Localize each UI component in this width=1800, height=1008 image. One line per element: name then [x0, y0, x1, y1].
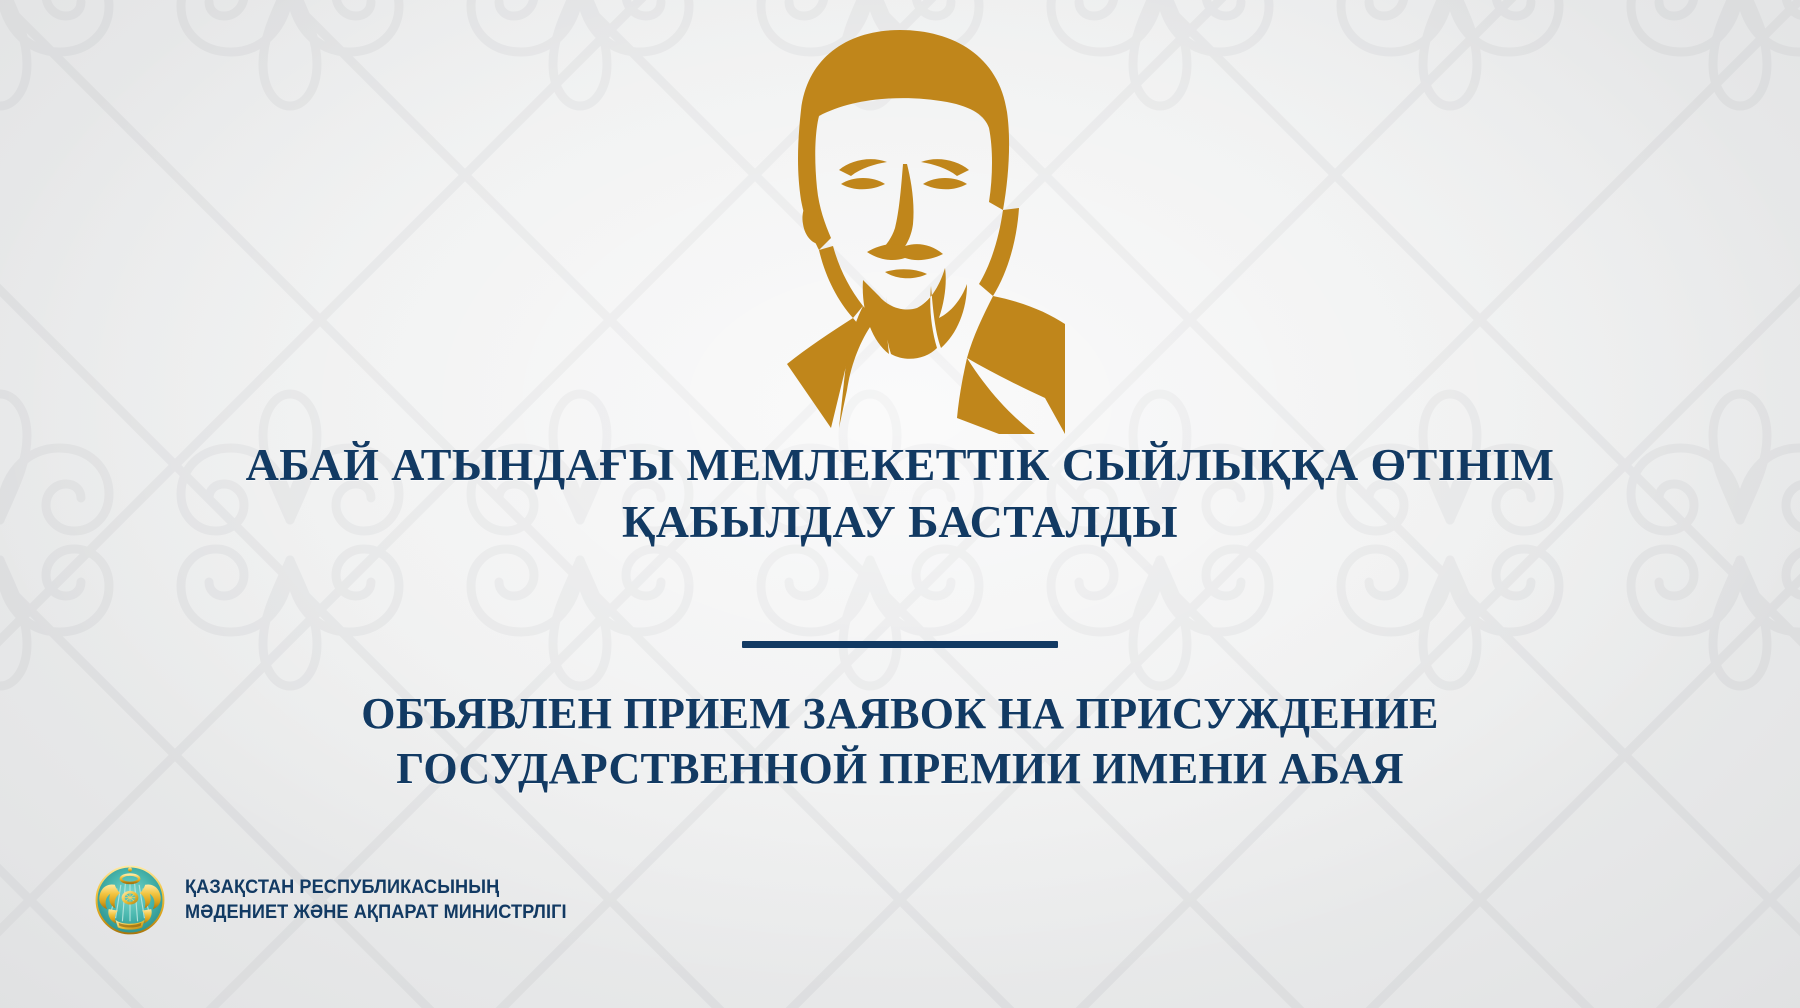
- headline-kazakh: АБАЙ АТЫНДАҒЫ МЕМЛЕКЕТТІК СЫЙЛЫҚҚА ӨТІНІ…: [0, 437, 1800, 550]
- ministry-name-line-1: ҚАЗАҚСТАН РЕСПУБЛИКАСЫНЫҢ: [185, 875, 567, 900]
- headline-russian: ОБЪЯВЛЕН ПРИЕМ ЗАЯВОК НА ПРИСУЖДЕНИЕ ГОС…: [0, 686, 1800, 797]
- ministry-lockup: ҚАЗАҚСТАН РЕСПУБЛИКАСЫНЫҢ МӘДЕНИЕТ ЖӘНЕ …: [92, 862, 595, 938]
- headline-kazakh-line-1: АБАЙ АТЫНДАҒЫ МЕМЛЕКЕТТІК СЫЙЛЫҚҚА ӨТІНІ…: [90, 437, 1710, 494]
- poster-canvas: АБАЙ АТЫНДАҒЫ МЕМЛЕКЕТТІК СЫЙЛЫҚҚА ӨТІНІ…: [0, 0, 1800, 1008]
- headline-russian-line-2: ГОСУДАРСТВЕННОЙ ПРЕМИИ ИМЕНИ АБАЯ: [90, 741, 1710, 796]
- ministry-name-line-2: МӘДЕНИЕТ ЖӘНЕ АҚПАРАТ МИНИСТРЛІГІ: [185, 900, 567, 925]
- kazakhstan-state-emblem-icon: [92, 862, 168, 938]
- abai-portrait-illustration: [735, 24, 1065, 434]
- headline-russian-line-1: ОБЪЯВЛЕН ПРИЕМ ЗАЯВОК НА ПРИСУЖДЕНИЕ: [90, 686, 1710, 741]
- divider-wrapper: [0, 641, 1800, 648]
- ministry-name: ҚАЗАҚСТАН РЕСПУБЛИКАСЫНЫҢ МӘДЕНИЕТ ЖӘНЕ …: [185, 875, 567, 926]
- section-divider: [742, 641, 1058, 648]
- headline-kazakh-line-2: ҚАБЫЛДАУ БАСТАЛДЫ: [90, 494, 1710, 551]
